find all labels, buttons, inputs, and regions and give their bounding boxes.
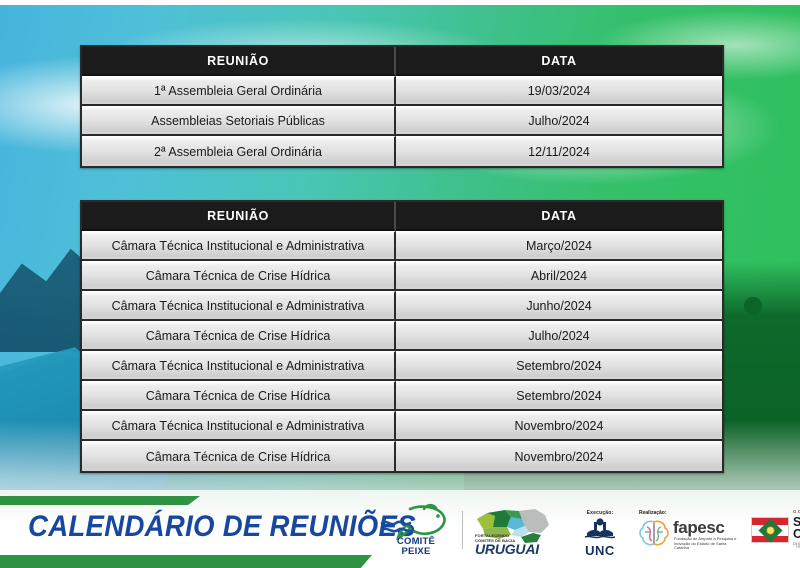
cell-reuniao: Câmara Técnica Institucional e Administr… (82, 411, 396, 441)
footer-green-bar-bottom (0, 555, 372, 568)
fapesc-logo: Realização: fapesc Fundação de Amparo à … (637, 501, 743, 559)
table-row: Câmara Técnica de Crise Hídrica Abril/20… (82, 261, 722, 291)
table-row: Câmara Técnica Institucional e Administr… (82, 291, 722, 321)
unc-emblem-icon (583, 517, 617, 539)
cell-reuniao: Câmara Técnica Institucional e Administr… (82, 231, 396, 261)
santa-catarina-wordmark: GOVERNO DE SANTA CATARINA DESENVOLVIMENT… (793, 510, 800, 549)
table-header-row: REUNIÃO DATA (82, 202, 722, 231)
cell-data: Novembro/2024 (396, 441, 722, 471)
footer: CALENDÁRIO DE REUNIÕES COMITÊ PEIXE (0, 490, 800, 568)
table-row: Câmara Técnica de Crise Hídrica Novembro… (82, 441, 722, 471)
santa-catarina-tagline: DESENVOLVIMENTO SUSTENTÁVEL · TRANSPARÊN… (793, 543, 800, 550)
technical-chambers-table: REUNIÃO DATA Câmara Técnica Instituciona… (80, 200, 724, 473)
santa-catarina-logo: GOVERNO DE SANTA CATARINA DESENVOLVIMENT… (751, 501, 800, 559)
table-row: Câmara Técnica Institucional e Administr… (82, 411, 722, 441)
unc-label: UNC (571, 543, 629, 558)
column-header-data: DATA (396, 47, 722, 76)
fapesc-label: fapesc (673, 519, 724, 536)
uruguai-label: URUGUAI (475, 541, 539, 557)
logo-strip: COMITÊ PEIXE FORTALECENDO (378, 494, 796, 566)
santa-catarina-flag-icon (751, 517, 789, 543)
table-row: Câmara Técnica de Crise Hídrica Julho/20… (82, 321, 722, 351)
unc-logo: Execução: UNC (571, 501, 629, 559)
santa-catarina-line2: CATARINA (793, 528, 800, 541)
assemblies-table: REUNIÃO DATA 1ª Assembleia Geral Ordinár… (80, 45, 724, 168)
cell-reuniao: Câmara Técnica Institucional e Administr… (82, 351, 396, 381)
cell-data: 12/11/2024 (396, 136, 722, 166)
cell-reuniao: Câmara Técnica de Crise Hídrica (82, 261, 396, 291)
fapesc-subtitle: Fundação de Amparo à Pesquisa e Inovação… (674, 537, 740, 551)
cell-data: Setembro/2024 (396, 351, 722, 381)
flag-coat-of-arms (766, 526, 775, 535)
background-top-edge (0, 0, 800, 5)
comite-peixe-label: COMITÊ PEIXE (378, 537, 454, 556)
footer-green-bar-top (0, 496, 200, 505)
comite-peixe-logo: COMITÊ PEIXE (378, 501, 454, 559)
cell-reuniao: 1ª Assembleia Geral Ordinária (82, 76, 396, 106)
cell-data: Abril/2024 (396, 261, 722, 291)
cell-data: 19/03/2024 (396, 76, 722, 106)
tables-area: REUNIÃO DATA 1ª Assembleia Geral Ordinár… (80, 45, 720, 473)
cell-data: Junho/2024 (396, 291, 722, 321)
table-row: 2ª Assembleia Geral Ordinária 12/11/2024 (82, 136, 722, 166)
column-header-reuniao: REUNIÃO (82, 202, 396, 231)
logo-divider (462, 511, 463, 549)
brain-icon (637, 519, 671, 549)
cell-data: Março/2024 (396, 231, 722, 261)
cell-reuniao: Assembleias Setoriais Públicas (82, 106, 396, 136)
cell-reuniao: 2ª Assembleia Geral Ordinária (82, 136, 396, 166)
table-row: Assembleias Setoriais Públicas Julho/202… (82, 106, 722, 136)
table-row: Câmara Técnica de Crise Hídrica Setembro… (82, 381, 722, 411)
cell-data: Julho/2024 (396, 106, 722, 136)
fapesc-caption: Realização: (639, 510, 667, 516)
cell-reuniao: Câmara Técnica de Crise Hídrica (82, 381, 396, 411)
page-title: CALENDÁRIO DE REUNIÕES (28, 510, 416, 544)
cell-data: Setembro/2024 (396, 381, 722, 411)
table-row: Câmara Técnica Institucional e Administr… (82, 231, 722, 261)
cell-data: Novembro/2024 (396, 411, 722, 441)
unc-caption: Execução: (571, 510, 629, 516)
cell-reuniao: Câmara Técnica de Crise Hídrica (82, 441, 396, 471)
table-row: Câmara Técnica Institucional e Administr… (82, 351, 722, 381)
column-header-reuniao: REUNIÃO (82, 47, 396, 76)
column-header-data: DATA (396, 202, 722, 231)
cell-reuniao: Câmara Técnica de Crise Hídrica (82, 321, 396, 351)
cell-data: Julho/2024 (396, 321, 722, 351)
uruguai-logo: FORTALECENDO COMITÊS DE BACIA URUGUAI (471, 501, 563, 559)
calendar-poster: REUNIÃO DATA 1ª Assembleia Geral Ordinár… (0, 0, 800, 568)
comite-peixe-line2: PEIXE (378, 547, 454, 557)
cell-reuniao: Câmara Técnica Institucional e Administr… (82, 291, 396, 321)
table-row: 1ª Assembleia Geral Ordinária 19/03/2024 (82, 76, 722, 106)
table-header-row: REUNIÃO DATA (82, 47, 722, 76)
